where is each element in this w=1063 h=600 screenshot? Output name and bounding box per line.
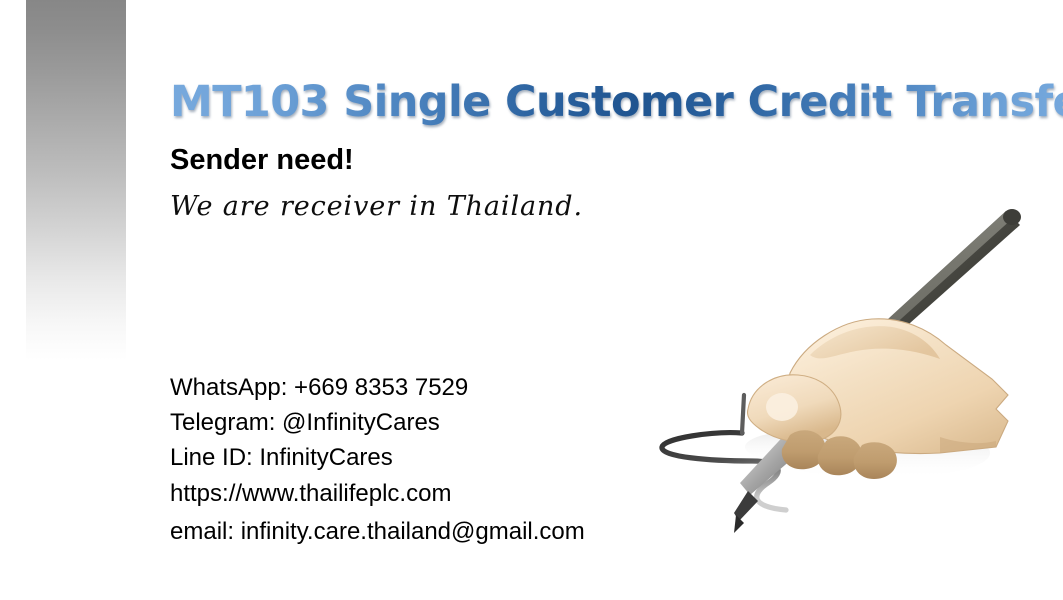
page-title: MT103 Single Customer Credit Transfer — [170, 76, 1063, 128]
slide-canvas: MT103 Single Customer Credit Transfer Se… — [0, 0, 1063, 600]
script-subtitle-text: We are receiver in Thailand. — [170, 190, 583, 224]
headline-text: Sender need! — [170, 143, 354, 177]
hand-writing-illustration — [640, 195, 1040, 535]
left-gradient-bar — [26, 0, 126, 360]
